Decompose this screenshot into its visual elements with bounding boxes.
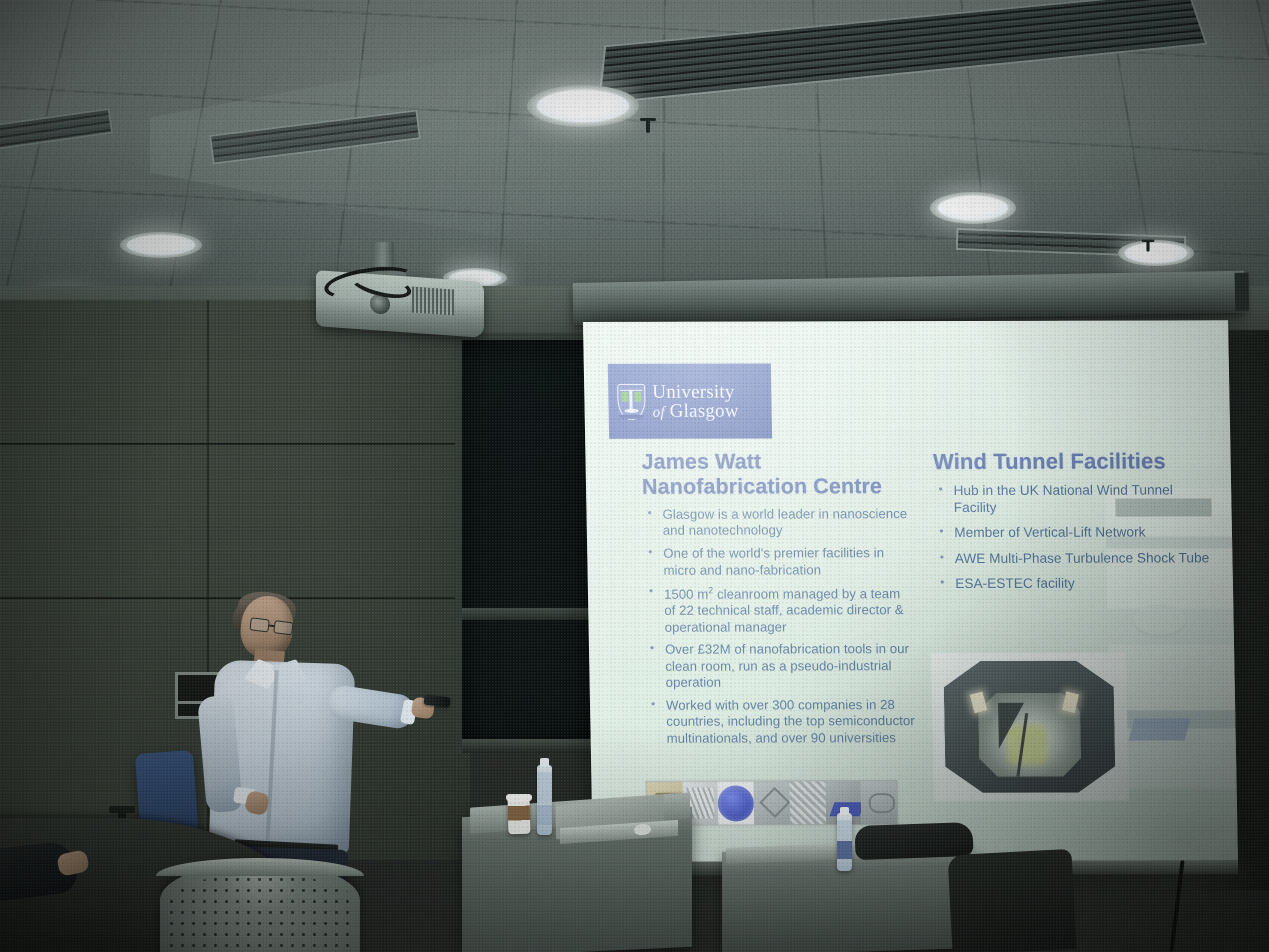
logo-line-1: University <box>652 382 738 401</box>
screen-surface: University of Glasgow James Watt Nanofab… <box>583 320 1238 862</box>
blackboard <box>455 333 603 753</box>
slide: University of Glasgow James Watt Nanofab… <box>583 320 1238 862</box>
slide-columns: James Watt Nanofabrication Centre Glasgo… <box>585 448 1236 753</box>
left-heading-line-1: James Watt <box>641 449 911 474</box>
ceiling-mounted-projector <box>316 276 484 332</box>
second-water-bottle <box>837 813 852 871</box>
left-heading-line-2: Nanofabrication Centre <box>642 474 912 499</box>
list-item: Member of Vertical-Lift Network <box>934 525 1214 543</box>
ceiling-downlight-icon <box>930 192 1016 224</box>
sprinkler-head-icon <box>640 116 656 136</box>
left-column-heading: James Watt Nanofabrication Centre <box>641 449 911 499</box>
list-item: One of the world's premier facilities in… <box>643 545 913 578</box>
logo-line-2-prefix: of <box>653 404 665 420</box>
list-item: 1500 m2 cleanroom managed by a team of 2… <box>644 585 914 636</box>
dark-chair <box>947 849 1076 952</box>
ceiling-downlight-icon <box>120 232 202 258</box>
sprinkler-head-icon <box>1142 238 1155 254</box>
university-logo: University of Glasgow <box>608 364 772 439</box>
chalk-rail <box>462 608 603 620</box>
chalk-rail <box>462 739 603 753</box>
list-item: Worked with over 300 companies in 28 cou… <box>646 697 916 747</box>
water-bottle <box>537 765 552 835</box>
right-column-bullet-list: Hub in the UK National Wind Tunnel Facil… <box>933 482 1215 592</box>
coffee-cup <box>508 798 531 835</box>
left-column-bullet-list: Glasgow is a world leader in nanoscience… <box>642 506 916 747</box>
slide-left-column: James Watt Nanofabrication Centre Glasgo… <box>585 449 926 753</box>
logo-wordmark: University of Glasgow <box>652 382 739 420</box>
projection-screen: University of Glasgow James Watt Nanofab… <box>583 320 1238 862</box>
list-item: AWE Multi-Phase Turbulence Shock Tube <box>935 550 1215 568</box>
list-item: Over £32M of nanofabrication tools in ou… <box>645 642 915 692</box>
ceiling-downlight-icon <box>1118 240 1194 266</box>
lecture-hall-scene: University of Glasgow James Watt Nanofab… <box>0 0 1269 952</box>
list-item: Hub in the UK National Wind Tunnel Facil… <box>933 482 1213 516</box>
wind-tunnel-photo <box>931 653 1129 801</box>
projector-vent <box>412 287 454 316</box>
ceiling-downlight-icon <box>527 85 639 127</box>
right-column-heading: Wind Tunnel Facilities <box>933 448 1213 474</box>
list-item: Glasgow is a world leader in nanoscience… <box>642 506 912 539</box>
logo-line-2: Glasgow <box>669 400 738 421</box>
jacket <box>854 822 973 860</box>
coffee-cup-lid <box>506 794 532 801</box>
list-item: ESA-ESTEC facility <box>935 575 1215 593</box>
university-shield-crest-icon <box>617 383 646 419</box>
